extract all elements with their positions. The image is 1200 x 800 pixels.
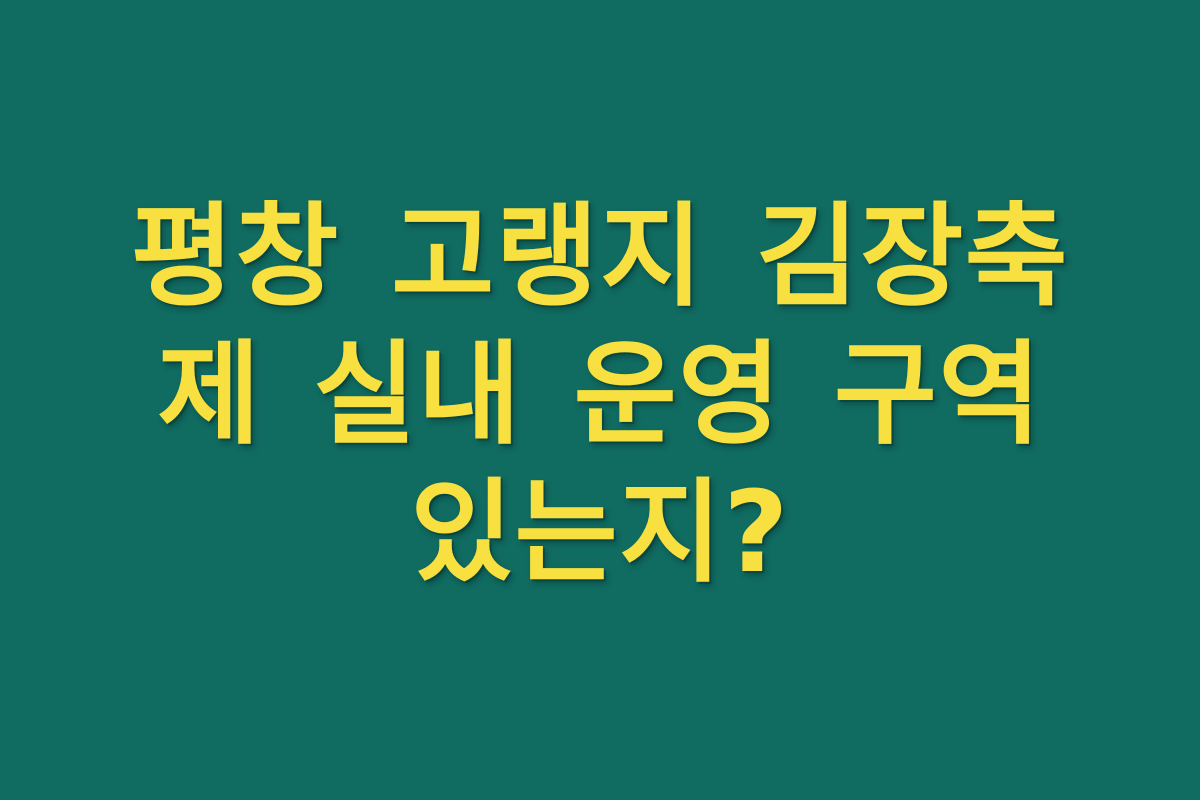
headline-block: 평창 고랭지 김장축제 실내 운영 구역 있는지? [88, 188, 1112, 602]
text-banner-card: 평창 고랭지 김장축제 실내 운영 구역 있는지? [0, 0, 1200, 800]
headline-text: 평창 고랭지 김장축제 실내 운영 구역 있는지? [88, 188, 1112, 602]
